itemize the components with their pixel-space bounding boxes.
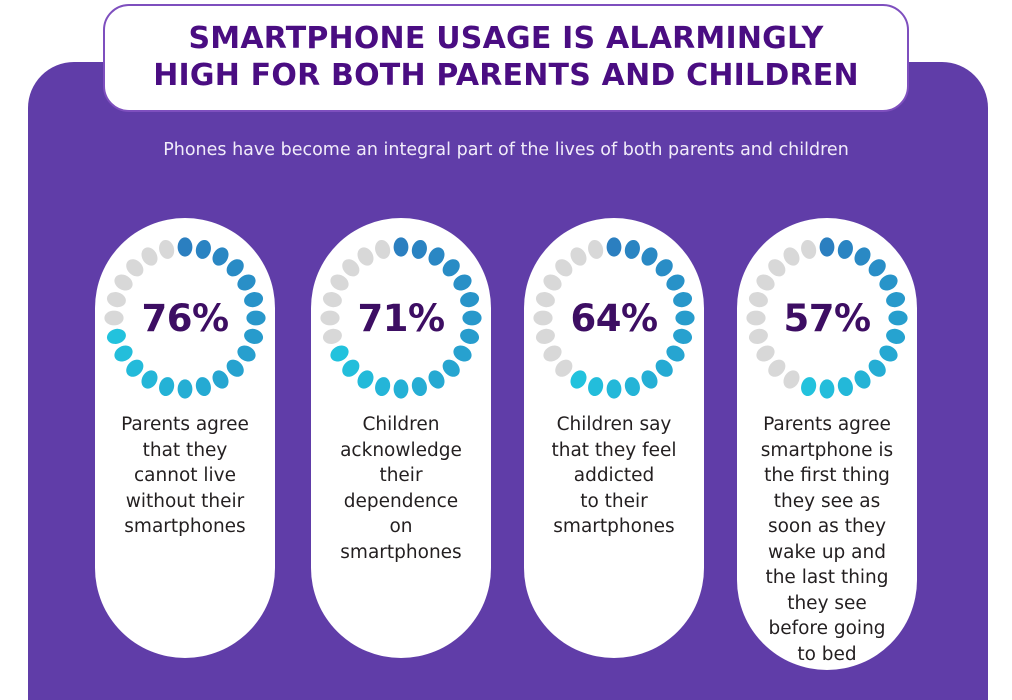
percentage-value: 57%	[735, 226, 919, 410]
donut-gauge: 76%	[93, 226, 277, 410]
stat-card: 64%Children say that they feel addicted …	[524, 218, 704, 658]
title-banner: SMARTPHONE USAGE IS ALARMINGLY HIGH FOR …	[103, 4, 909, 112]
percentage-value: 76%	[93, 226, 277, 410]
donut-gauge: 71%	[309, 226, 493, 410]
stat-card: 71%Children acknowledge their dependence…	[311, 218, 491, 658]
donut-gauge: 64%	[522, 226, 706, 410]
donut-gauge: 57%	[735, 226, 919, 410]
stat-card: 57%Parents agree smartphone is the first…	[737, 218, 917, 670]
percentage-value: 64%	[522, 226, 706, 410]
subtitle-text: Phones have become an integral part of t…	[0, 140, 1012, 160]
stat-card-caption: Parents agree that they cannot live with…	[109, 412, 261, 540]
stat-card-caption: Children acknowledge their dependence on…	[325, 412, 477, 565]
stat-card-caption: Parents agree smartphone is the first th…	[751, 412, 903, 667]
infographic-root: SMARTPHONE USAGE IS ALARMINGLY HIGH FOR …	[0, 0, 1012, 700]
stat-card: 76%Parents agree that they cannot live w…	[95, 218, 275, 658]
page-title: SMARTPHONE USAGE IS ALARMINGLY HIGH FOR …	[153, 21, 859, 94]
percentage-value: 71%	[309, 226, 493, 410]
stat-card-caption: Children say that they feel addicted to …	[538, 412, 690, 540]
